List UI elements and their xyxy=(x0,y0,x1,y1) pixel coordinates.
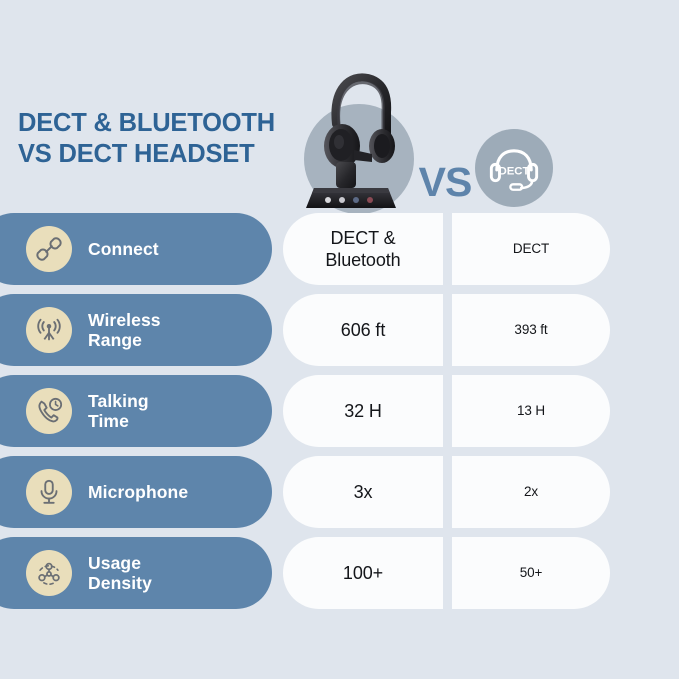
value-primary-microphone: 3x xyxy=(283,456,443,528)
value-secondary-talking-time: 13 H xyxy=(452,375,610,447)
row-label-usage-density: UsageDensity xyxy=(0,537,272,609)
comparison-infographic: DECT & BLUETOOTH VS DECT HEADSET xyxy=(0,0,679,679)
comparison-rows: Connect DECT &Bluetooth DECT xyxy=(0,213,679,618)
dect-icon-circle: DECT xyxy=(475,129,553,207)
value-primary-wireless-range: 606 ft xyxy=(283,294,443,366)
row-label-wireless-range: WirelessRange xyxy=(0,294,272,366)
row-label-text: UsageDensity xyxy=(88,553,152,593)
row-label-microphone: Microphone xyxy=(0,456,272,528)
value-text: DECT &Bluetooth xyxy=(325,227,400,271)
value-text: DECT xyxy=(513,240,549,258)
table-row: Connect DECT &Bluetooth DECT xyxy=(0,213,679,285)
dect-bluetooth-headset-photo xyxy=(292,66,416,212)
value-text: 32 H xyxy=(344,400,382,422)
page-title-line-1: DECT & BLUETOOTH xyxy=(18,108,303,139)
row-label-text: Connect xyxy=(88,239,159,259)
row-label-text: WirelessRange xyxy=(88,310,161,350)
value-secondary-usage-density: 50+ xyxy=(452,537,610,609)
table-row: TalkingTime 32 H 13 H xyxy=(0,375,679,447)
value-primary-usage-density: 100+ xyxy=(283,537,443,609)
table-row: WirelessRange 606 ft 393 ft xyxy=(0,294,679,366)
value-text: 2x xyxy=(524,483,538,501)
row-label-talking-time: TalkingTime xyxy=(0,375,272,447)
value-secondary-connect: DECT xyxy=(452,213,610,285)
value-secondary-microphone: 2x xyxy=(452,456,610,528)
table-row: UsageDensity 100+ 50+ xyxy=(0,537,679,609)
value-text: 100+ xyxy=(343,562,383,584)
value-primary-connect: DECT &Bluetooth xyxy=(283,213,443,285)
value-text: 50+ xyxy=(520,564,543,582)
usage-density-icon xyxy=(26,550,72,596)
page-title: DECT & BLUETOOTH VS DECT HEADSET xyxy=(18,108,303,170)
table-row: Microphone 3x 2x xyxy=(0,456,679,528)
value-secondary-wireless-range: 393 ft xyxy=(452,294,610,366)
phone-clock-icon xyxy=(26,388,72,434)
link-icon xyxy=(26,226,72,272)
value-text: 13 H xyxy=(517,402,545,420)
value-text: 606 ft xyxy=(341,319,385,341)
row-label-text: Microphone xyxy=(88,482,188,502)
value-text: 393 ft xyxy=(514,321,547,339)
value-primary-talking-time: 32 H xyxy=(283,375,443,447)
vs-label: VS xyxy=(410,162,480,203)
microphone-icon xyxy=(26,469,72,515)
wireless-signal-icon xyxy=(26,307,72,353)
dect-icon-text: DECT xyxy=(499,165,530,177)
row-label-text: TalkingTime xyxy=(88,391,149,431)
hero-comparison: VS DECT xyxy=(290,84,580,224)
dect-headset-outline-icon: DECT xyxy=(485,139,543,197)
page-title-line-2: VS DECT HEADSET xyxy=(18,139,303,170)
value-text: 3x xyxy=(354,481,373,503)
row-label-connect: Connect xyxy=(0,213,272,285)
